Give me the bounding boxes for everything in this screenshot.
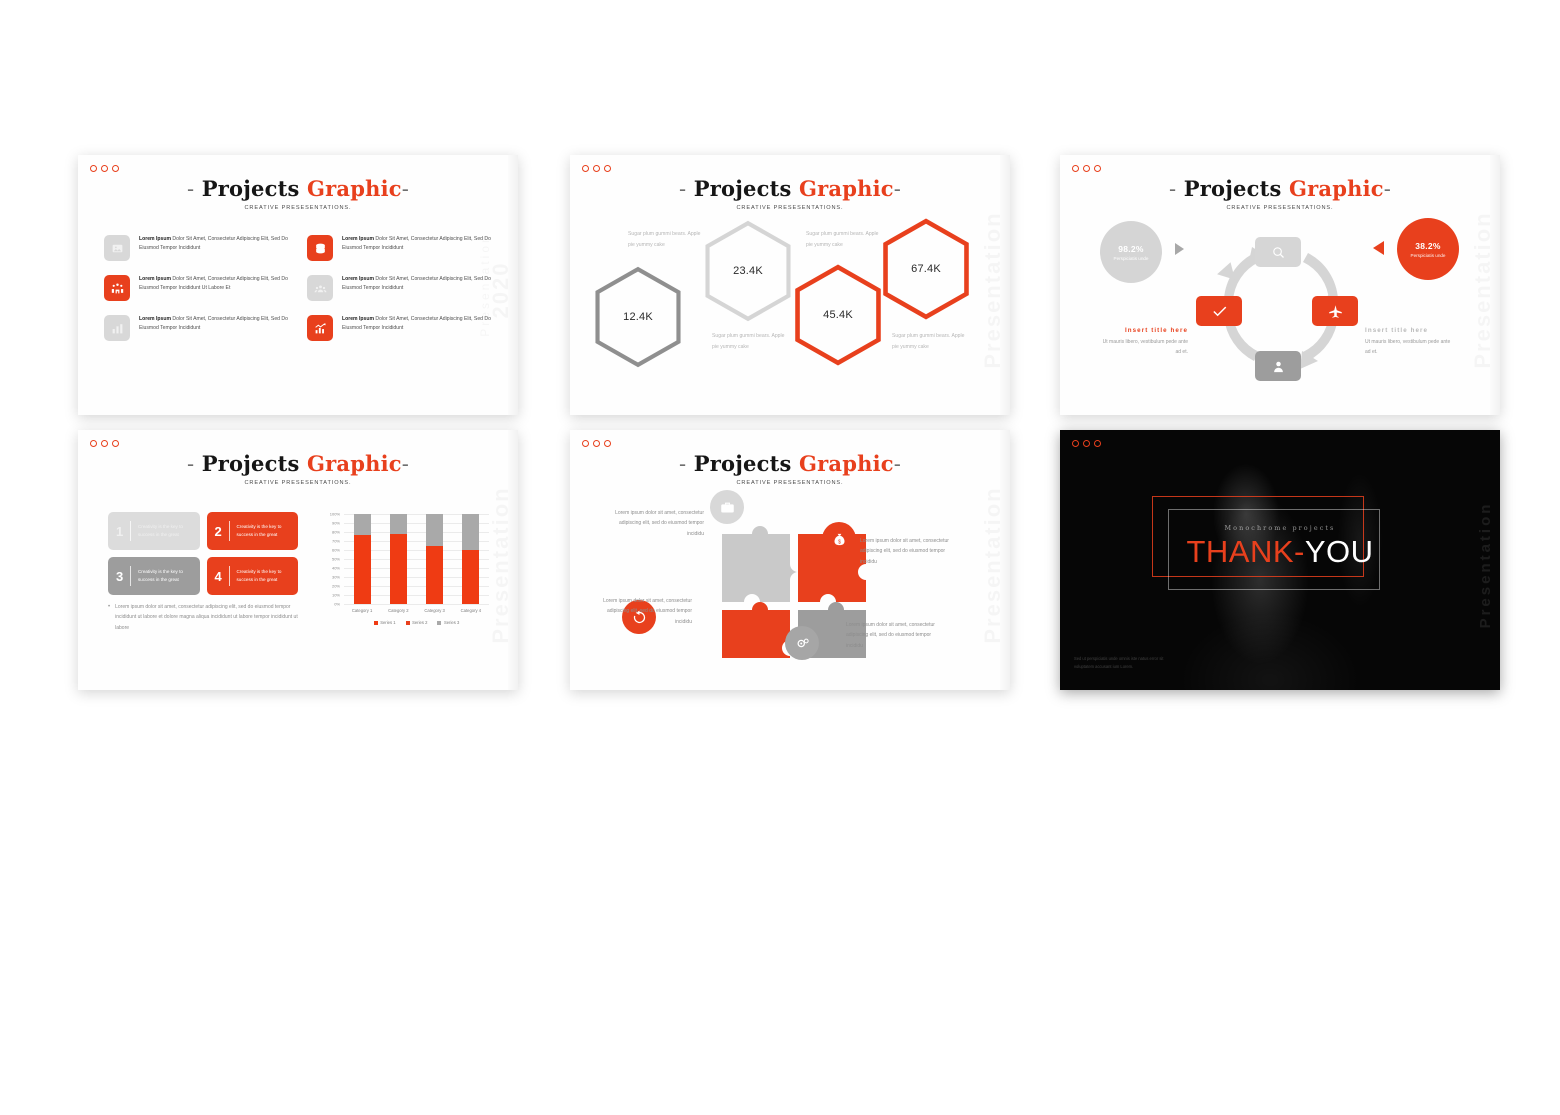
- feature-text: Lorem Ipsum Dolor Sit Amet, Consectetur …: [342, 235, 496, 254]
- cycle-node-approve[interactable]: [1196, 296, 1242, 326]
- step-text: Creativity is the key to success in the …: [138, 523, 192, 539]
- chart-bar-segment-series3: [390, 514, 407, 534]
- step-number: 2: [215, 524, 222, 539]
- feature-text: Lorem Ipsum Dolor Sit Amet, Consectetur …: [139, 235, 293, 254]
- step-text: Creativity is the key to success in the …: [236, 523, 290, 539]
- puzzle-text-block: Lorem ipsum dolor sit amet, consectetur …: [592, 596, 692, 627]
- feature-text: Lorem Ipsum Dolor Sit Amet, Consectetur …: [139, 275, 293, 294]
- step-text: Creativity is the key to success in the …: [138, 568, 192, 584]
- puzzle-icon-money[interactable]: $: [822, 522, 856, 556]
- airplane-icon: [1328, 304, 1343, 319]
- gear-icon: [795, 636, 810, 651]
- window-dots: [90, 440, 119, 447]
- chart-bar[interactable]: [390, 514, 407, 604]
- chart-plot-area: [344, 514, 489, 604]
- chart-y-tick: 70%: [332, 539, 340, 544]
- page-subtitle: CREATIVE PRESESENTATIONS.: [78, 480, 518, 486]
- slide-edge: [1490, 155, 1500, 415]
- title-black: Projects: [202, 176, 300, 201]
- chart-bar-segment-series3: [462, 514, 479, 550]
- puzzle-icon-briefcase[interactable]: [710, 490, 744, 524]
- feature-item[interactable]: Lorem Ipsum Dolor Sit Amet, Consectetur …: [104, 315, 293, 341]
- title-black: Projects: [202, 451, 300, 476]
- chart-y-tick: 60%: [332, 548, 340, 553]
- chart-x-label: Category 2: [388, 608, 408, 613]
- step-number: 1: [116, 524, 123, 539]
- feature-item[interactable]: Lorem Ipsum Dolor Sit Amet, Consectetur …: [104, 275, 293, 301]
- chart-bar[interactable]: [462, 514, 479, 604]
- window-dots: [1072, 440, 1101, 447]
- feature-item[interactable]: Lorem Ipsum Dolor Sit Amet, Consectetur …: [307, 315, 496, 341]
- step-item-2[interactable]: 2 Creativity is the key to success in th…: [207, 512, 299, 550]
- thank-you-footnote: Sed ut perspiciatis unde omnis iste natu…: [1074, 655, 1166, 672]
- bar-chart-icon: [104, 315, 130, 341]
- hexagon-stat[interactable]: 45.4K: [792, 263, 884, 367]
- hexagon-caption: Sugar plum gummi bears. Apple pie yummy …: [806, 229, 884, 250]
- legend-swatch: [406, 621, 410, 625]
- hexagon-caption: Sugar plum gummi bears. Apple pie yummy …: [628, 229, 706, 250]
- slide-header: - Projects Graphic- CREATIVE PRESESENTAT…: [78, 177, 518, 211]
- user-icon: [1271, 359, 1286, 374]
- chart-x-label: Category 3: [424, 608, 444, 613]
- right-caption-desc: Ut mauris libero, vestibulum pede ante a…: [1365, 338, 1453, 357]
- left-percent-caption: Perspiciatis unde: [1114, 256, 1149, 261]
- chart-bar-segment-series1: [354, 535, 371, 604]
- feature-text: Lorem Ipsum Dolor Sit Amet, Consectetur …: [342, 315, 496, 334]
- money-bag-icon: $: [832, 532, 847, 547]
- slide-edge: [508, 430, 518, 690]
- presentation-template-showcase: - Projects Graphic- CREATIVE PRESESENTAT…: [0, 0, 1560, 1115]
- left-caption-desc: Ut mauris libero, vestibulum pede ante a…: [1100, 338, 1188, 357]
- chart-bar-segment-series1: [462, 550, 479, 604]
- left-percent-badge[interactable]: 98.2% Perspiciatis unde: [1100, 221, 1162, 283]
- chart-y-tick: 30%: [332, 575, 340, 580]
- title-red: Graphic: [307, 451, 402, 476]
- chart-y-tick: 90%: [332, 521, 340, 526]
- puzzle-diagram: $ Lorem ipsum dolor sit amet, consectetu…: [570, 430, 1010, 690]
- chart-x-label: Category 4: [461, 608, 481, 613]
- chart-legend-item[interactable]: Series 3: [437, 620, 459, 625]
- chart-bar-segment-series1: [426, 546, 443, 604]
- puzzle-text-block: Lorem ipsum dolor sit amet, consectetur …: [604, 508, 704, 539]
- step-text: Creativity is the key to success in the …: [236, 568, 290, 584]
- puzzle-icon-gear[interactable]: [785, 626, 819, 660]
- right-caption-title: Insert title here: [1365, 327, 1453, 334]
- chart-y-axis: 0%10%20%30%40%50%60%70%80%90%100%: [318, 514, 342, 604]
- hexagon-value: 23.4K: [702, 219, 794, 323]
- legend-swatch: [437, 621, 441, 625]
- hexagon-stat[interactable]: 23.4K: [702, 219, 794, 323]
- check-icon: [1212, 304, 1227, 319]
- title-dash-left: -: [187, 452, 194, 476]
- step-number: 4: [215, 569, 222, 584]
- chart-legend[interactable]: Series 1Series 2Series 3: [344, 620, 489, 625]
- slide-4-steps-chart[interactable]: - Projects Graphic- CREATIVE PRESESENTAT…: [78, 430, 518, 690]
- chart-bar-segment-series3: [426, 514, 443, 546]
- hexagon-stat[interactable]: 12.4K: [592, 265, 684, 369]
- step-number: 3: [116, 569, 123, 584]
- left-caption-title: Insert title here: [1100, 327, 1188, 334]
- cycle-node-user[interactable]: [1255, 351, 1301, 381]
- slide-6-thank-you[interactable]: Monochrome projects THANK-YOU Sed ut per…: [1060, 430, 1500, 690]
- feature-item[interactable]: Lorem Ipsum Dolor Sit Amet, Consectetur …: [307, 275, 496, 301]
- search-icon: [1271, 245, 1286, 260]
- page-title: - Projects Graphic-: [78, 452, 518, 476]
- feature-item[interactable]: Lorem Ipsum Dolor Sit Amet, Consectetur …: [307, 235, 496, 261]
- puzzle-text-block: Lorem ipsum dolor sit amet, consectetur …: [860, 536, 960, 567]
- feature-text: Lorem Ipsum Dolor Sit Amet, Consectetur …: [342, 275, 496, 294]
- cycle-node-travel[interactable]: [1312, 296, 1358, 326]
- right-percent-value: 38.2%: [1415, 241, 1441, 251]
- slide-header: - Projects Graphic- CREATIVE PRESESENTAT…: [78, 452, 518, 486]
- legend-swatch: [374, 621, 378, 625]
- right-caption-block: Insert title here Ut mauris libero, vest…: [1365, 327, 1453, 357]
- feature-text: Lorem Ipsum Dolor Sit Amet, Consectetur …: [139, 315, 293, 334]
- page-title: - Projects Graphic-: [78, 177, 518, 201]
- right-arrow-icon: [1373, 241, 1384, 255]
- step-divider: [130, 566, 131, 586]
- chart-bars: [344, 514, 489, 604]
- left-percent-value: 98.2%: [1118, 244, 1144, 254]
- thank-dash: -: [1294, 534, 1305, 569]
- feature-grid: Lorem Ipsum Dolor Sit Amet, Consectetur …: [104, 235, 496, 341]
- chart-bar[interactable]: [426, 514, 443, 604]
- growth-chart-icon: [307, 315, 333, 341]
- svg-text:$: $: [838, 539, 841, 545]
- hexagon-value: 45.4K: [792, 263, 884, 367]
- slide-edge: [508, 155, 518, 415]
- left-caption-block: Insert title here Ut mauris libero, vest…: [1100, 327, 1188, 357]
- step-item-4[interactable]: 4 Creativity is the key to success in th…: [207, 557, 299, 595]
- hexagon-caption: Sugar plum gummi bears. Apple pie yummy …: [712, 331, 790, 352]
- chart-y-tick: 80%: [332, 530, 340, 535]
- slide-edge: [1000, 155, 1010, 415]
- chart-x-labels: Category 1Category 2Category 3Category 4: [344, 608, 489, 613]
- image-icon: [104, 235, 130, 261]
- chart-x-label: Category 1: [352, 608, 372, 613]
- slide-5-puzzle[interactable]: - Projects Graphic- CREATIVE PRESESENTAT…: [570, 430, 1010, 690]
- chart-y-tick: 100%: [330, 512, 340, 517]
- hexagon-stat[interactable]: 67.4K: [880, 217, 972, 321]
- thank-you-pretitle: Monochrome projects: [1060, 524, 1500, 532]
- team-icon: [104, 275, 130, 301]
- title-dash-right: -: [402, 177, 409, 201]
- bullet-block: • Lorem ipsum dolor sit amet, consectetu…: [108, 602, 306, 633]
- chart-legend-item[interactable]: Series 2: [406, 620, 428, 625]
- step-divider: [229, 521, 230, 541]
- chart-legend-item[interactable]: Series 1: [374, 620, 396, 625]
- cycle-node-search[interactable]: [1255, 237, 1301, 267]
- hexagon-caption: Sugar plum gummi bears. Apple pie yummy …: [892, 331, 970, 352]
- step-item-3[interactable]: 3 Creativity is the key to success in th…: [108, 557, 200, 595]
- chart-y-tick: 50%: [332, 557, 340, 562]
- thank-you-title: THANK-YOU: [1060, 534, 1500, 570]
- you-word: YOU: [1305, 534, 1374, 569]
- chart-y-tick: 10%: [332, 593, 340, 598]
- right-percent-badge[interactable]: 38.2% Perspiciatis unde: [1397, 218, 1459, 280]
- window-dots: [90, 165, 119, 172]
- slide-2-hexagons[interactable]: - Projects Graphic- CREATIVE PRESESENTAT…: [570, 155, 1010, 415]
- bullet-text: Lorem ipsum dolor sit amet, consectetur …: [115, 602, 306, 633]
- slide-edge: [1000, 430, 1010, 690]
- bullet-marker: •: [108, 602, 110, 633]
- hexagon-value: 67.4K: [880, 217, 972, 321]
- chart-gridline: [344, 604, 489, 605]
- slide-1-features[interactable]: - Projects Graphic- CREATIVE PRESESENTAT…: [78, 155, 518, 415]
- hexagon-value: 12.4K: [592, 265, 684, 369]
- hexagon-group: 12.4K 23.4K 45.4K 67.4K Sugar plum gummi…: [570, 155, 1010, 415]
- database-icon: [307, 235, 333, 261]
- feature-item[interactable]: Lorem Ipsum Dolor Sit Amet, Consectetur …: [104, 235, 293, 261]
- chart-bar-segment-series1: [390, 534, 407, 604]
- chart-bar[interactable]: [354, 514, 371, 604]
- page-subtitle: CREATIVE PRESESENTATIONS.: [78, 205, 518, 211]
- chart-bar-segment-series3: [354, 514, 371, 535]
- title-dash-left: -: [187, 177, 194, 201]
- chart-y-tick: 0%: [334, 602, 340, 607]
- step-item-1[interactable]: 1 Creativity is the key to success in th…: [108, 512, 200, 550]
- step-divider: [229, 566, 230, 586]
- step-grid: 1 Creativity is the key to success in th…: [108, 512, 298, 595]
- title-red: Graphic: [307, 176, 402, 201]
- chart-y-tick: 20%: [332, 584, 340, 589]
- stacked-bar-chart[interactable]: 0%10%20%30%40%50%60%70%80%90%100% Catego…: [318, 510, 493, 630]
- right-percent-caption: Perspiciatis unde: [1411, 253, 1446, 258]
- slide-3-cycle[interactable]: - Projects Graphic- CREATIVE PRESESENTAT…: [1060, 155, 1500, 415]
- briefcase-icon: [720, 500, 735, 515]
- group-icon: [307, 275, 333, 301]
- puzzle-text-block: Lorem ipsum dolor sit amet, consectetur …: [846, 620, 946, 651]
- cycle-diagram: 98.2% Perspiciatis unde 38.2% Perspiciat…: [1060, 155, 1500, 415]
- step-divider: [130, 521, 131, 541]
- thank-word: THANK: [1186, 534, 1294, 569]
- left-arrow-icon: [1175, 243, 1184, 255]
- chart-y-tick: 40%: [332, 566, 340, 571]
- title-dash-right: -: [402, 452, 409, 476]
